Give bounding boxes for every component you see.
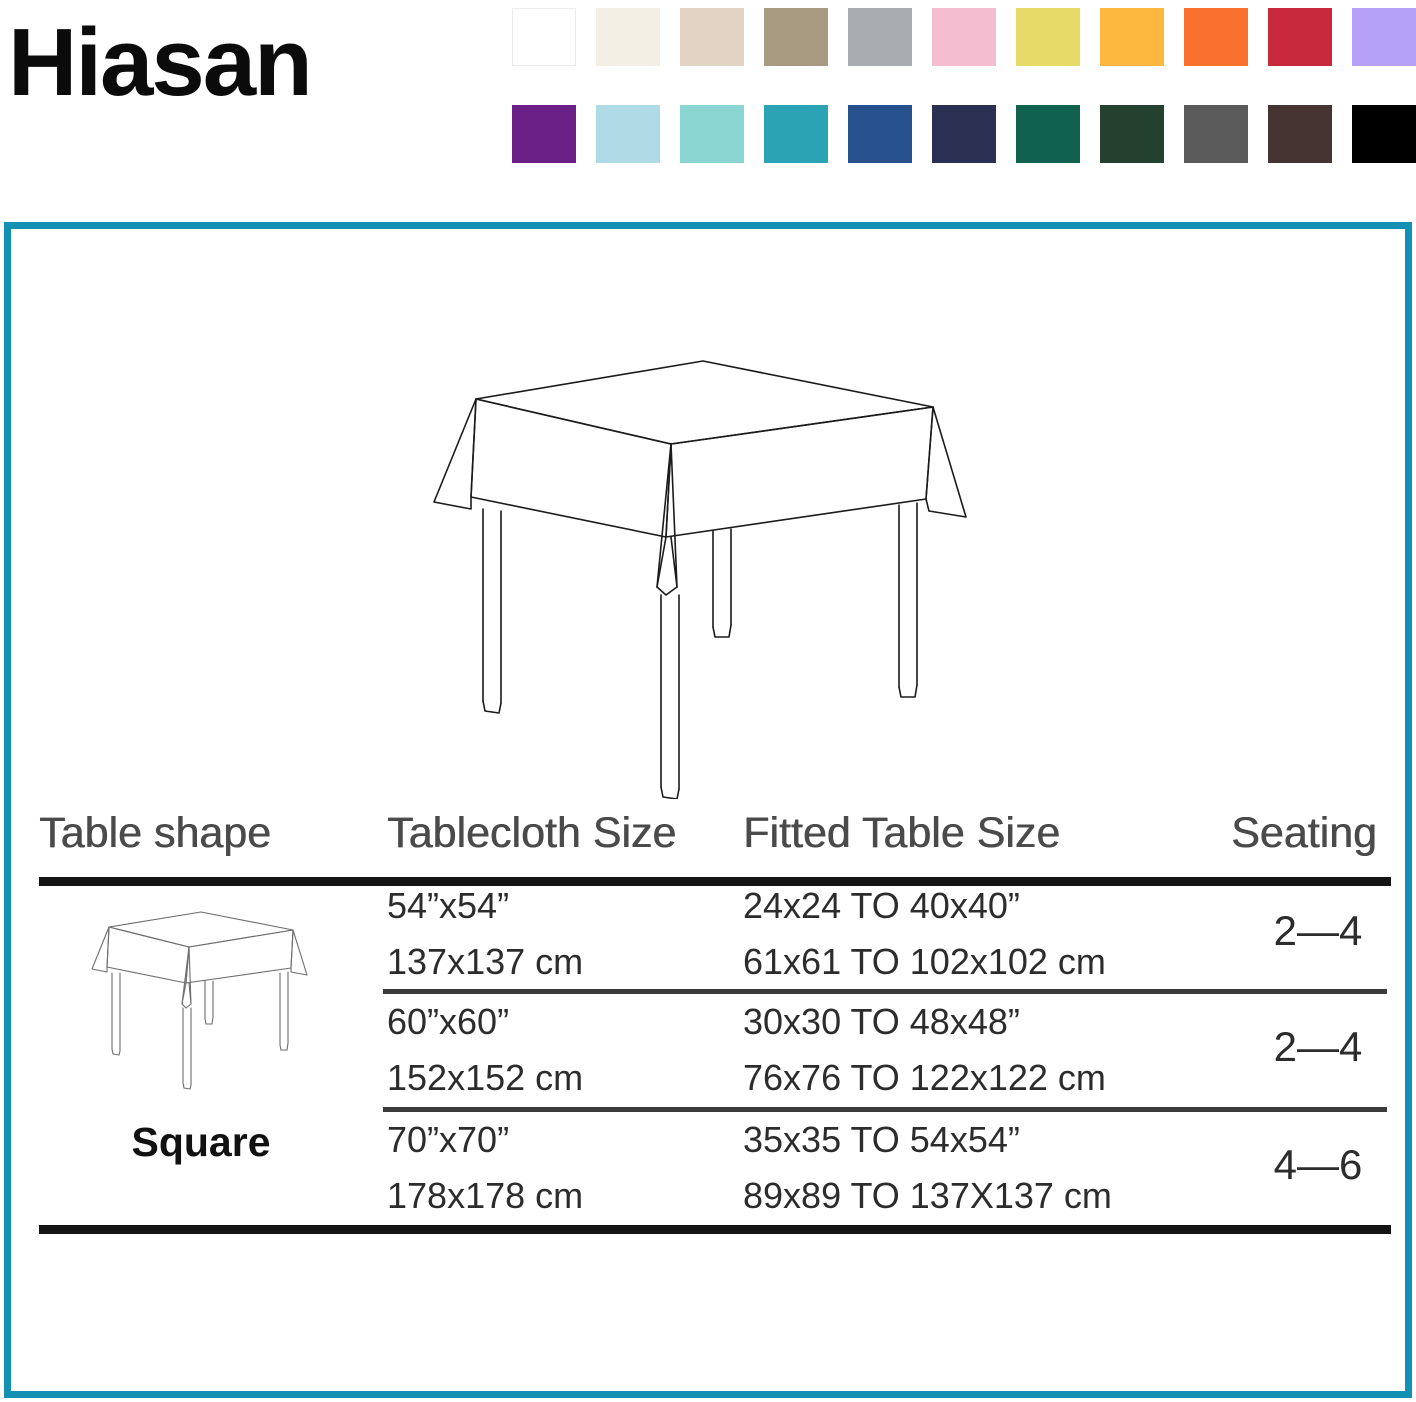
color-swatch-silver-grey[interactable] xyxy=(848,8,912,66)
color-swatch-black[interactable] xyxy=(1352,105,1416,163)
color-swatch-dark-grey[interactable] xyxy=(1184,105,1248,163)
cell-tablecloth-size-cm: 137x137 cm xyxy=(387,941,583,983)
table-header-row: Table shape Tablecloth Size Fitted Table… xyxy=(31,809,1391,871)
header-band: Hiasan xyxy=(0,0,1416,196)
color-swatch-aqua[interactable] xyxy=(680,105,744,163)
cell-fitted-table-size-cm: 89x89 TO 137X137 cm xyxy=(743,1175,1112,1217)
color-swatch-orange[interactable] xyxy=(1184,8,1248,66)
color-swatch-emerald-green[interactable] xyxy=(1016,105,1080,163)
cell-seating: 2—4 xyxy=(1243,907,1393,955)
cell-seating: 4—6 xyxy=(1243,1141,1393,1189)
color-swatch-white[interactable] xyxy=(512,8,576,66)
color-swatch-ivory[interactable] xyxy=(596,8,660,66)
color-swatch-hunter-green[interactable] xyxy=(1100,105,1164,163)
cell-fitted-table-size-inches: 35x35 TO 54x54” xyxy=(743,1119,1020,1161)
cell-tablecloth-size-cm: 178x178 cm xyxy=(387,1175,583,1217)
cell-fitted-table-size-cm: 76x76 TO 122x122 cm xyxy=(743,1057,1106,1099)
color-swatch-row-1 xyxy=(512,8,1412,66)
size-chart-table: Table shape Tablecloth Size Fitted Table… xyxy=(31,809,1391,1269)
color-swatch-khaki[interactable] xyxy=(764,8,828,66)
table-row: 60”x60” 152x152 cm 30x30 TO 48x48” 76x76… xyxy=(31,999,1391,1111)
cell-tablecloth-size-cm: 152x152 cm xyxy=(387,1057,583,1099)
color-swatch-red[interactable] xyxy=(1268,8,1332,66)
color-swatch-navy-blue[interactable] xyxy=(848,105,912,163)
color-swatch-purple[interactable] xyxy=(512,105,576,163)
color-swatch-blush-pink[interactable] xyxy=(932,8,996,66)
cell-tablecloth-size-inches: 60”x60” xyxy=(387,1001,509,1043)
column-header-seating: Seating xyxy=(1231,809,1377,858)
color-swatch-brown[interactable] xyxy=(1268,105,1332,163)
color-swatch-powder-blue[interactable] xyxy=(596,105,660,163)
column-header-fitted-table-size: Fitted Table Size xyxy=(743,809,1060,858)
color-swatch-beige[interactable] xyxy=(680,8,744,66)
brand-logo: Hiasan xyxy=(8,8,468,118)
square-table-with-draped-tablecloth-illustration-icon xyxy=(421,339,981,799)
column-header-tablecloth-size: Tablecloth Size xyxy=(387,809,676,858)
table-row: 70”x70” 178x178 cm 35x35 TO 54x54” 89x89… xyxy=(31,1117,1391,1229)
cell-fitted-table-size-inches: 30x30 TO 48x48” xyxy=(743,1001,1020,1043)
cell-fitted-table-size-inches: 24x24 TO 40x40” xyxy=(743,885,1020,927)
column-header-table-shape: Table shape xyxy=(39,809,271,858)
color-swatch-teal[interactable] xyxy=(764,105,828,163)
color-swatch-midnight-navy[interactable] xyxy=(932,105,996,163)
color-swatch-light-yellow[interactable] xyxy=(1016,8,1080,66)
table-row: 54”x54” 137x137 cm 24x24 TO 40x40” 61x61… xyxy=(31,883,1391,995)
color-swatch-gold-yellow[interactable] xyxy=(1100,8,1164,66)
color-swatch-grid xyxy=(512,8,1412,168)
cell-tablecloth-size-inches: 70”x70” xyxy=(387,1119,509,1161)
color-swatch-lavender[interactable] xyxy=(1352,8,1416,66)
cell-seating: 2—4 xyxy=(1243,1023,1393,1071)
size-chart-panel: Table shape Tablecloth Size Fitted Table… xyxy=(4,222,1412,1398)
cell-fitted-table-size-cm: 61x61 TO 102x102 cm xyxy=(743,941,1106,983)
color-swatch-row-2 xyxy=(512,105,1412,163)
cell-tablecloth-size-inches: 54”x54” xyxy=(387,885,509,927)
